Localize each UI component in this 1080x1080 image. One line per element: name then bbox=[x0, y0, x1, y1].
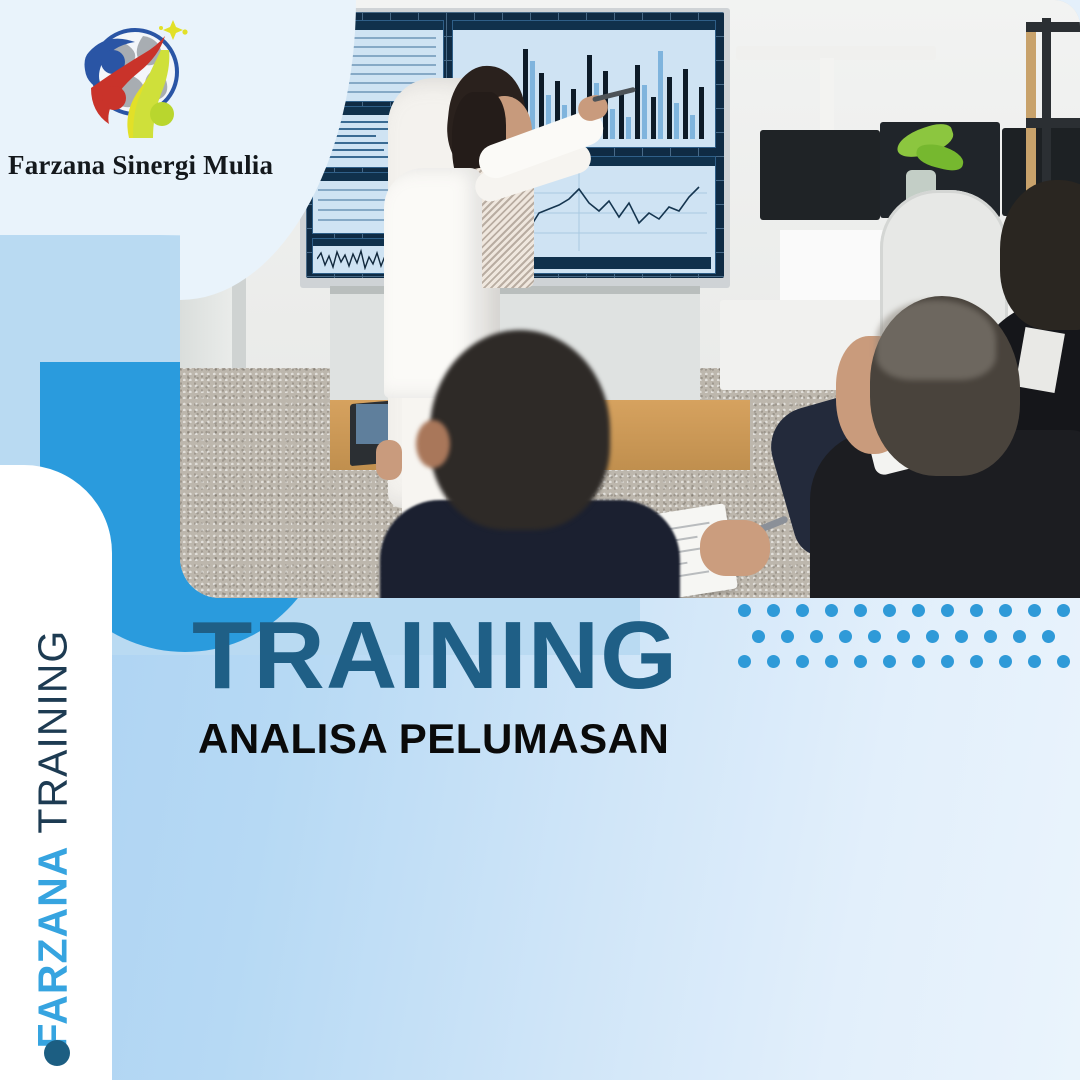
page-subtitle: ANALISA PELUMASAN bbox=[198, 718, 669, 760]
page-title: TRAINING bbox=[192, 608, 678, 704]
photo-presenter-hand-lower bbox=[376, 440, 402, 480]
photo-attendee-2-hair-highlight bbox=[876, 300, 996, 380]
photo-ceiling-lamp bbox=[736, 46, 936, 60]
company-name: Farzana Sinergi Mulia bbox=[8, 150, 258, 181]
vertical-brand-strip: FARZANATRAINING bbox=[30, 579, 77, 1049]
photo-shelf-2 bbox=[1026, 118, 1080, 128]
decorative-dot-grid bbox=[738, 604, 1070, 668]
poster-canvas: Farzana Sinergi Mulia TRAINING ANALISA P… bbox=[0, 0, 1080, 1080]
farzana-globe-icon bbox=[69, 14, 197, 146]
photo-attendee-2-hand bbox=[700, 520, 770, 576]
brand-logo-block: Farzana Sinergi Mulia bbox=[8, 14, 258, 181]
photo-monitor-1 bbox=[760, 130, 880, 220]
photo-shelf-1 bbox=[1026, 22, 1080, 32]
photo-lamp-stem bbox=[820, 58, 834, 138]
brand-bullet-dot bbox=[44, 1040, 70, 1066]
hero-photo bbox=[180, 0, 1080, 598]
photo-attendee-1-head bbox=[430, 330, 610, 530]
vertical-brand-light: TRAINING bbox=[30, 630, 76, 834]
vertical-brand-bold: FARZANA bbox=[30, 846, 76, 1049]
photo-attendee-1-ear bbox=[416, 420, 450, 468]
